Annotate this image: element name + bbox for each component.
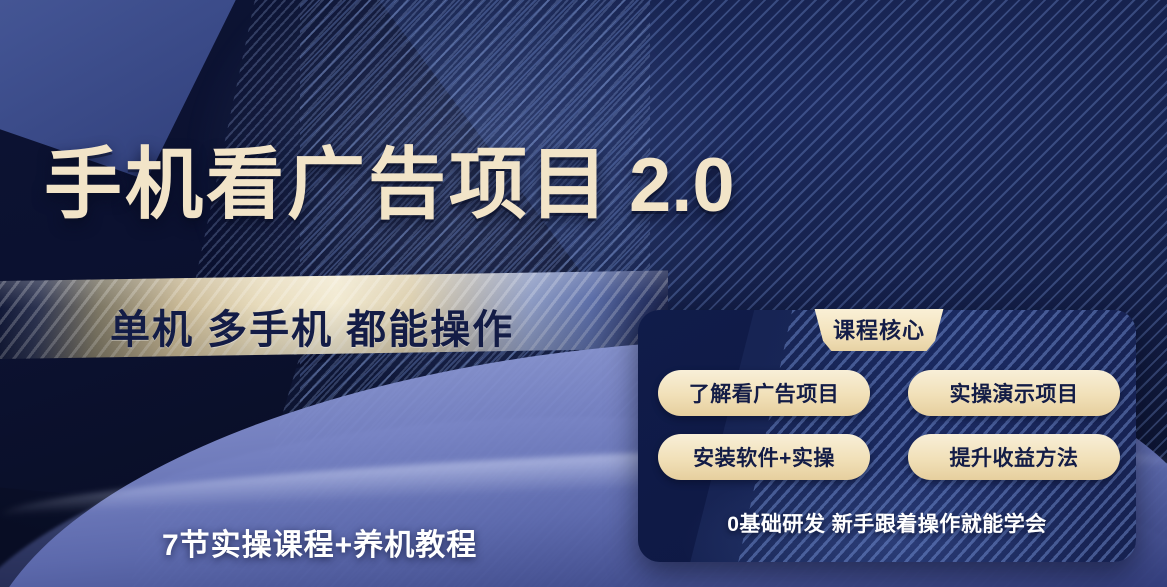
- page-title-main: 手机看广告项目: [44, 140, 611, 228]
- feature-pill[interactable]: 安装软件+实操: [658, 434, 870, 480]
- feature-pill-label: 了解看广告项目: [689, 378, 840, 408]
- page-subtitle: 单机 多手机 都能操作: [110, 297, 514, 355]
- feature-pill[interactable]: 实操演示项目: [908, 370, 1120, 416]
- card-header-badge-label: 课程核心: [833, 313, 925, 345]
- feature-pill[interactable]: 了解看广告项目: [658, 370, 870, 416]
- page-title-version: 2.0: [629, 143, 735, 228]
- feature-pill[interactable]: 提升收益方法: [908, 434, 1120, 480]
- feature-pill-label: 安装软件+实操: [693, 442, 835, 472]
- card-header-badge: 课程核心: [809, 309, 949, 351]
- feature-pill-grid: 了解看广告项目 实操演示项目 安装软件+实操 提升收益方法: [658, 370, 1120, 480]
- page-title: 手机看广告项目2.0: [44, 122, 1044, 234]
- course-tagline: 7节实操课程+养机教程: [162, 520, 477, 564]
- card-footnote: 0基础研发 新手跟着操作就能学会: [638, 508, 1136, 538]
- promo-poster: 手机看广告项目2.0 单机 多手机 都能操作 7节实操课程+养机教程 课程核心 …: [0, 0, 1167, 587]
- feature-pill-label: 提升收益方法: [950, 442, 1079, 472]
- feature-pill-label: 实操演示项目: [950, 378, 1079, 408]
